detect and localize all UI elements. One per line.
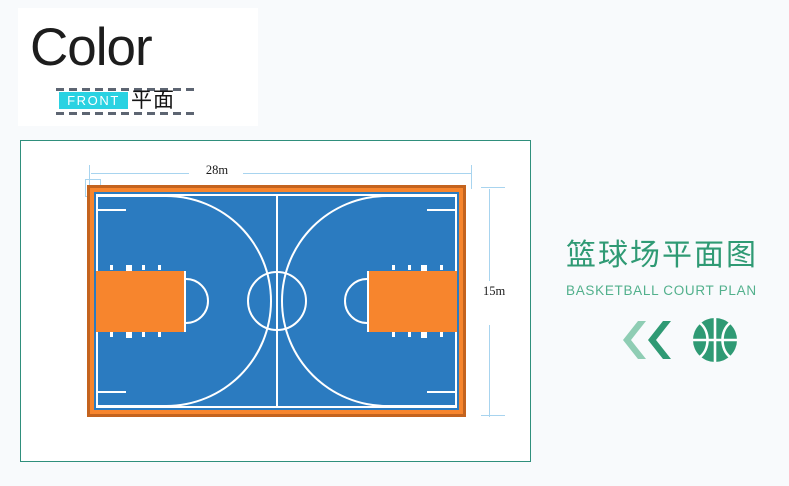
lane-hash-mark bbox=[142, 332, 145, 337]
key-paint-right bbox=[367, 271, 457, 332]
three-point-corner-left-top bbox=[96, 209, 126, 211]
chevron-left-icon-dark bbox=[648, 321, 671, 359]
logo-dashed-rule-bottom bbox=[56, 112, 195, 115]
lane-hash-mark bbox=[392, 265, 395, 270]
lane-hash-mark bbox=[440, 265, 443, 270]
lane-hash-mark bbox=[421, 332, 427, 338]
dimension-line-top-right bbox=[243, 173, 471, 174]
dimension-label-width: 15m bbox=[483, 284, 529, 299]
three-point-corner-right-top bbox=[427, 209, 457, 211]
lane-hash-mark bbox=[110, 265, 113, 270]
lane-hash-mark bbox=[440, 332, 443, 337]
lane-hash-mark bbox=[126, 332, 132, 338]
front-badge: FRONT bbox=[59, 92, 128, 109]
dimension-tick-right-top bbox=[481, 187, 505, 188]
dimension-tick-right-bottom bbox=[481, 415, 505, 416]
logo-wordmark: Color bbox=[30, 20, 152, 76]
basketball-icon bbox=[693, 318, 737, 362]
basketball-court-diagram bbox=[87, 185, 466, 417]
chevron-left-icon-light bbox=[623, 321, 646, 359]
caption-block: 篮球场平面图 BASKETBALL COURT PLAN bbox=[566, 238, 781, 300]
lane-hash-mark bbox=[158, 265, 161, 270]
caption-title-en: BASKETBALL COURT PLAN bbox=[566, 282, 781, 300]
diagram-card: 28m 15m bbox=[20, 140, 531, 462]
lane-hash-mark bbox=[408, 332, 411, 337]
lane-hash-mark bbox=[110, 332, 113, 337]
caption-title-cn: 篮球场平面图 bbox=[566, 238, 781, 274]
key-paint-left bbox=[96, 271, 186, 332]
logo-block: Color FRONT 平面 bbox=[18, 8, 258, 126]
lane-hash-mark bbox=[126, 265, 132, 271]
dimension-label-length: 28m bbox=[191, 163, 243, 178]
three-point-corner-right-bottom bbox=[427, 391, 457, 393]
page-root: Color FRONT 平面 28m 15m bbox=[0, 0, 789, 486]
lane-hash-mark bbox=[421, 265, 427, 271]
court-playing-surface bbox=[94, 192, 459, 410]
dimension-line-top-left bbox=[91, 173, 189, 174]
lane-hash-mark bbox=[392, 332, 395, 337]
lane-hash-mark bbox=[408, 265, 411, 270]
dimension-line-right-lower bbox=[489, 325, 490, 417]
dimension-line-right-upper bbox=[489, 189, 490, 281]
logo-subtitle-cn: 平面 bbox=[131, 89, 175, 112]
dimension-tick-top-right bbox=[471, 165, 472, 189]
lane-hash-mark bbox=[142, 265, 145, 270]
three-point-corner-left-bottom bbox=[96, 391, 126, 393]
lane-hash-mark bbox=[158, 332, 161, 337]
caption-decoration bbox=[616, 313, 746, 367]
